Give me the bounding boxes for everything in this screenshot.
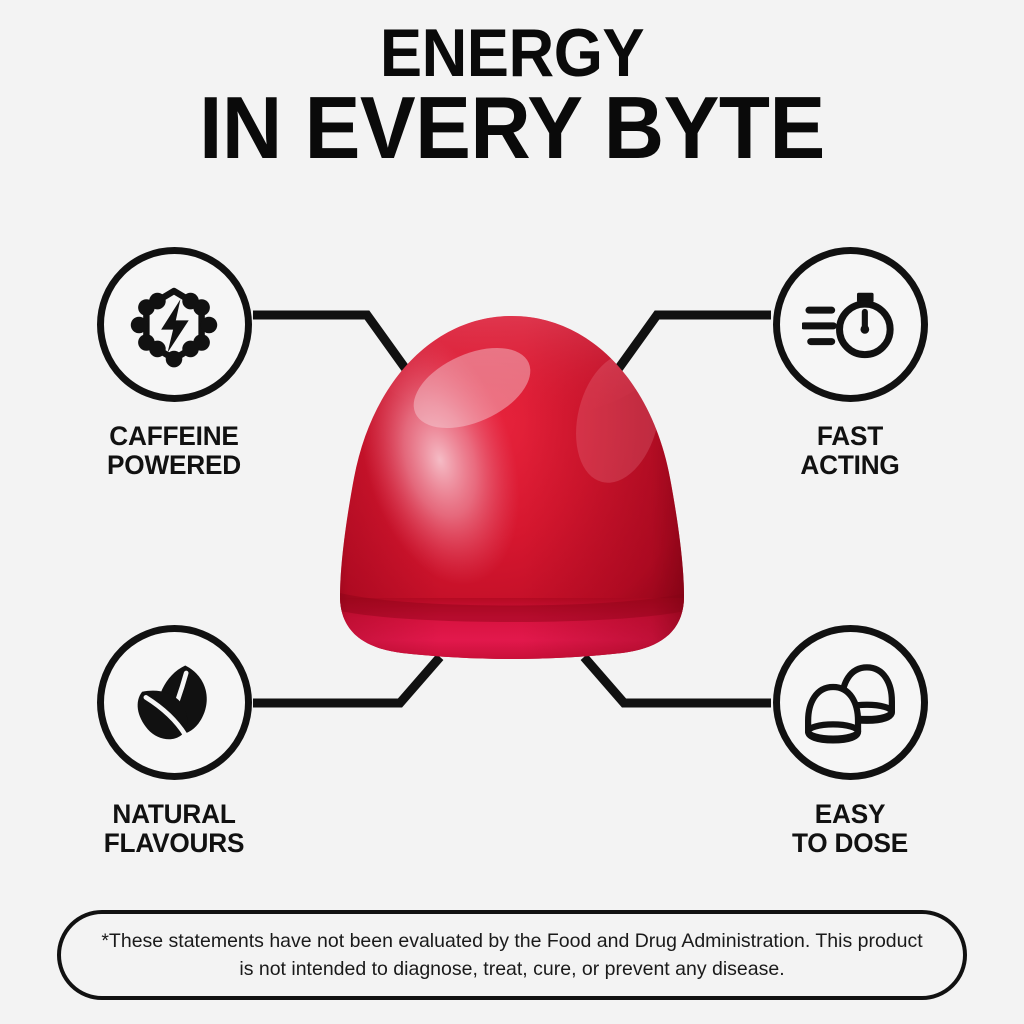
feature-icon-circle	[773, 625, 928, 780]
disclaimer-text: *These statements have not been evaluate…	[67, 927, 957, 984]
feature-label: EASY TO DOSE	[734, 800, 967, 858]
stopwatch-pivot	[860, 325, 869, 334]
leaves-icon	[127, 658, 221, 748]
feature-label-line-1: FAST	[817, 421, 883, 451]
feature-label-line-1: EASY	[815, 799, 886, 829]
feature-label-line-1: CAFFEINE	[109, 421, 238, 451]
infographic-canvas: ENERGY IN EVERY BYTE	[0, 0, 1024, 1024]
feature-label-line-2: TO DOSE	[734, 829, 967, 858]
feature-label-line-2: POWERED	[58, 451, 291, 480]
feature-label: FAST ACTING	[734, 422, 967, 480]
page-title: ENERGY IN EVERY BYTE	[0, 22, 1024, 169]
headline-line-2: IN EVERY BYTE	[26, 87, 999, 169]
feature-caffeine-powered[interactable]: CAFFEINE POWERED	[54, 247, 294, 480]
disclaimer-box: *These statements have not been evaluate…	[57, 910, 967, 1000]
feature-easy-to-dose[interactable]: EASY TO DOSE	[730, 625, 970, 858]
feature-label-line-1: NATURAL	[112, 799, 235, 829]
feature-label-line-2: FLAVOURS	[58, 829, 291, 858]
two-gummies-icon	[801, 659, 899, 747]
feature-label: NATURAL FLAVOURS	[58, 800, 291, 858]
feature-icon-circle	[97, 247, 252, 402]
red-gummy-illustration	[322, 310, 702, 670]
headline-line-1: ENERGY	[36, 22, 988, 85]
stopwatch-stem	[860, 300, 870, 307]
stopwatch-speed-icon	[802, 279, 898, 371]
product-image	[322, 310, 702, 670]
feature-icon-circle	[97, 625, 252, 780]
caffeine-molecule-bolt-icon	[128, 279, 220, 371]
feature-natural-flavours[interactable]: NATURAL FLAVOURS	[54, 625, 294, 858]
feature-label-line-2: ACTING	[734, 451, 967, 480]
speed-lines	[804, 310, 834, 341]
gummy-front-base	[808, 724, 858, 738]
feature-fast-acting[interactable]: FAST ACTING	[730, 247, 970, 480]
feature-icon-circle	[773, 247, 928, 402]
feature-label: CAFFEINE POWERED	[58, 422, 291, 480]
